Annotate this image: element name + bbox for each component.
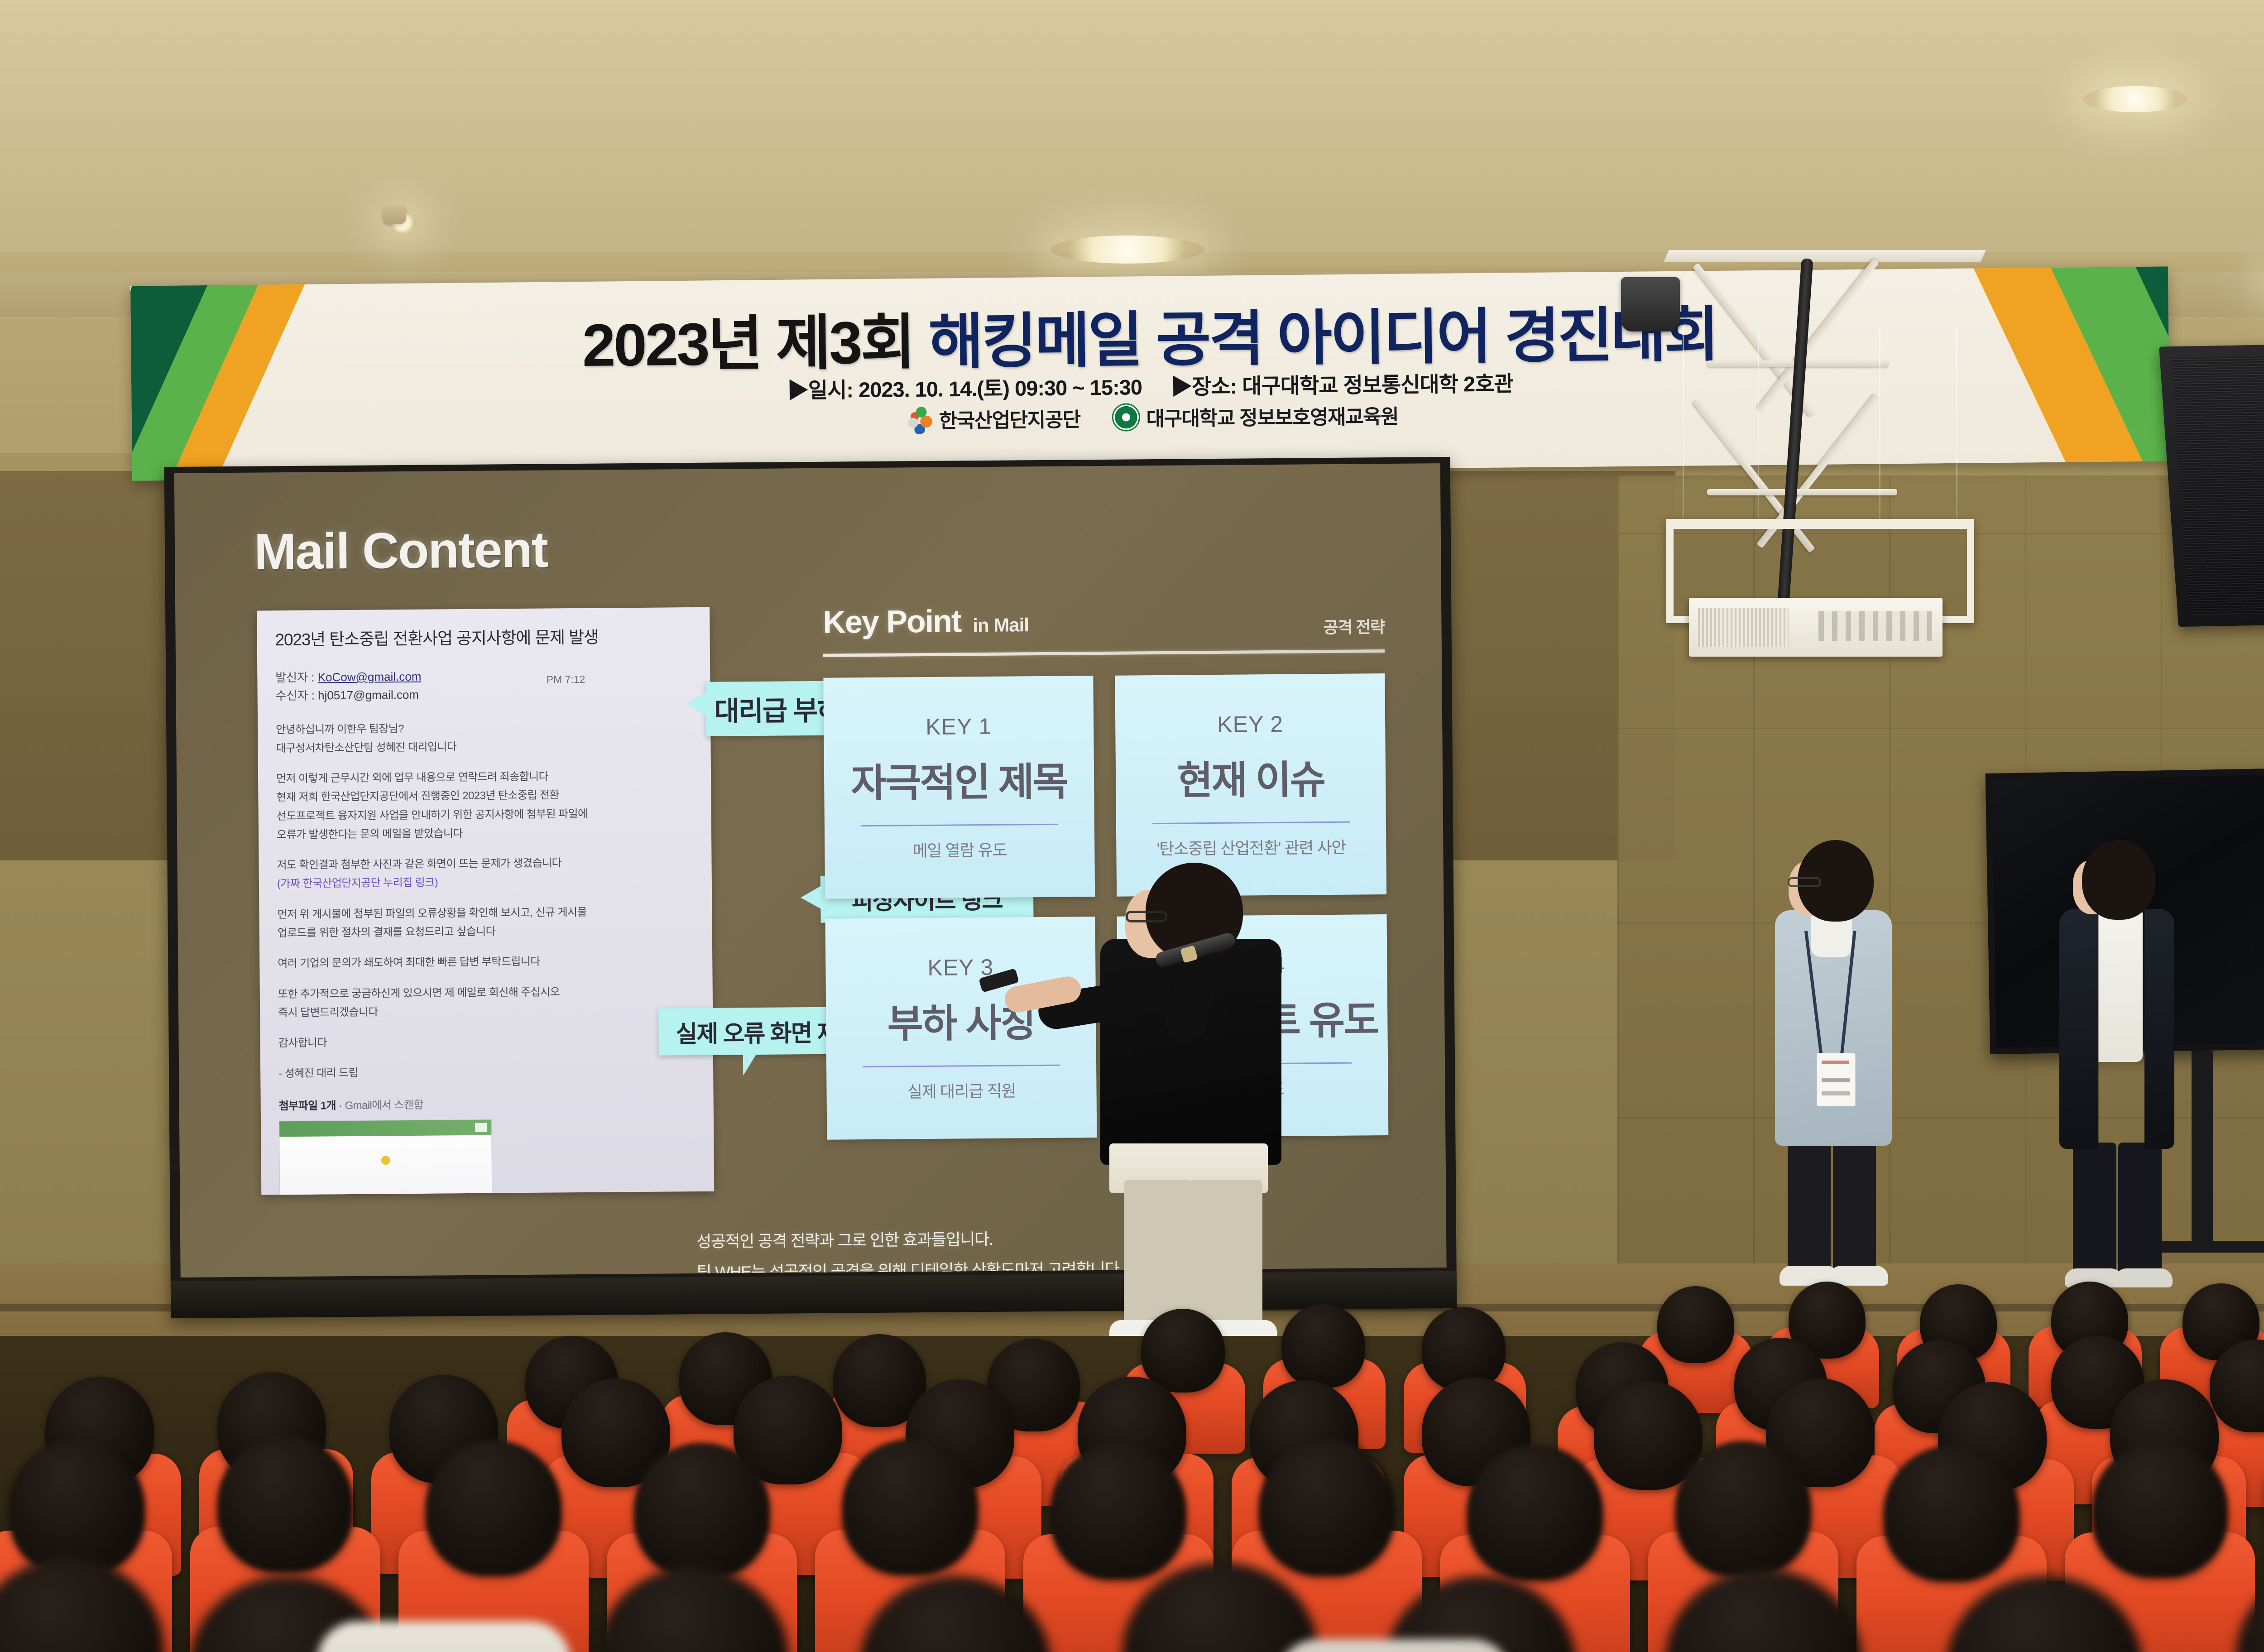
email-preview-card: 2023년 탄소중립 전환사업 공지사항에 문제 발생 발신자 : KoCow@… xyxy=(257,607,714,1195)
banner-date: ▶일시: 2023. 10. 14.(토) 09:30 ~ 15:30 xyxy=(787,375,1142,403)
daegu-univ-logo-icon xyxy=(1112,403,1140,432)
projector-body xyxy=(1689,598,1943,657)
email-line-10: 즉시 답변드리겠습니다 xyxy=(278,1006,378,1019)
key-point-tag: 공격 전략 xyxy=(1323,614,1384,638)
audience-head xyxy=(1657,1286,1734,1363)
email-body-line: 또한 추가적으로 궁금하신게 있으시면 제 메일로 회신해 주십시오 즉시 답변… xyxy=(278,982,695,1023)
key-card-sub: 메일 열람 유도 xyxy=(912,837,1007,862)
staff-head xyxy=(2082,840,2155,920)
staff-inner-shirt xyxy=(1811,916,1852,957)
staff-leg xyxy=(2073,1143,2116,1278)
projector-vent xyxy=(1698,608,1789,647)
badge-line xyxy=(1822,1078,1850,1082)
email-attachment-label: 첨부파일 1개 xyxy=(279,1100,336,1112)
email-body-line: 감사합니다 xyxy=(278,1031,695,1052)
audience-head xyxy=(426,1440,561,1576)
audience-head xyxy=(217,1436,353,1572)
kicox-logo-icon xyxy=(902,404,933,435)
sponsor-daegu-label: 대구대학교 정보보호영재교육원 xyxy=(1146,400,1398,432)
sponsor-kicox: 한국산업단지공단 xyxy=(902,403,1080,434)
email-phishing-link-note[interactable]: (가짜 한국산업단지공단 누리집 링크) xyxy=(277,877,438,890)
key-point-title-sub: in Mail xyxy=(973,614,1029,636)
audience-shoulder xyxy=(1277,1639,1512,1652)
monitor-stand-post xyxy=(2192,1051,2213,1245)
email-line-2: 먼저 이렇게 근무시간 외에 업무 내용으로 연락드려 죄송합니다 xyxy=(276,771,548,785)
ceiling-projector-icon xyxy=(1639,254,2010,661)
badge-line xyxy=(1822,1091,1850,1095)
key-card-number: KEY 1 xyxy=(926,713,992,740)
key-card-sub: 실제 대리급 직원 xyxy=(907,1078,1016,1102)
email-body-line: 안녕하십니까 이한우 팀장님? 대구성서차탄소산단팀 성혜진 대리입니다 xyxy=(276,717,693,758)
audience-head xyxy=(1467,1445,1603,1580)
glasses-icon xyxy=(1788,877,1821,887)
banner-title-year: 2023년 제3회 xyxy=(582,309,929,379)
email-to-row: 수신자 : hj0517@gmail.com xyxy=(275,683,692,705)
attachment-warning-icon xyxy=(381,1156,390,1165)
audience-head xyxy=(1422,1307,1506,1391)
auditorium-scene: 2023년 제3회 해킹메일 공격 아이디어 경진대회 ▶일시: 2023. 1… xyxy=(0,0,2264,1652)
email-body-line: 먼저 이렇게 근무시간 외에 업무 내용으로 연락드려 죄송합니다 현재 저희 … xyxy=(276,766,693,844)
key-card-main: 자극적인 제목 xyxy=(851,750,1068,808)
attachment-thumb-bar xyxy=(279,1119,491,1137)
audience xyxy=(0,1304,2264,1652)
email-from-label: 발신자 : xyxy=(275,671,314,685)
email-line-3: 현재 저희 한국산업단지공단에서 진행중인 2023년 탄소중립 전환 xyxy=(276,789,559,804)
staff-member-with-badge xyxy=(1761,840,1897,1297)
email-attachment-row: 첨부파일 1개 · Gmail에서 스캔함 xyxy=(279,1094,696,1113)
key-point-title: Key Point xyxy=(823,603,961,640)
email-to-label: 수신자 : xyxy=(276,689,315,703)
staff-leg xyxy=(2118,1143,2162,1278)
safety-wire xyxy=(1758,326,1759,521)
banner-title-main: 해킹메일 공격 아이디어 경진대회 xyxy=(928,301,1718,375)
email-body: 안녕하십니까 이한우 팀장님? 대구성서차탄소산단팀 성혜진 대리입니다 먼저 … xyxy=(276,717,695,1083)
projector-ports xyxy=(1818,611,1932,641)
email-line-7: 먼저 위 게시물에 첨부된 파일의 오류상황을 확인해 보시고, 신규 게시물 xyxy=(277,906,587,921)
audience-head xyxy=(634,1443,770,1579)
key-card-main: 현재 이슈 xyxy=(1177,748,1324,806)
ceiling-camera-icon xyxy=(1621,277,1680,331)
email-body-line: 저도 확인결과 첨부한 사진과 같은 화면이 뜨는 문제가 생겼습니다 (가짜 … xyxy=(277,853,694,893)
key-card-rule xyxy=(1152,821,1350,824)
key-card-rule xyxy=(863,1065,1060,1067)
audience-shoulder xyxy=(317,1621,571,1652)
email-from-address: KoCow@gmail.com xyxy=(318,670,422,684)
audience-head xyxy=(1281,1304,1365,1388)
projector-scissor-lift xyxy=(1698,254,1952,530)
sponsor-kicox-label: 한국산업단지공단 xyxy=(939,403,1080,433)
downlight-icon xyxy=(1050,235,1204,264)
key-card-sub: '탄소중립 산업전환' 관련 사안 xyxy=(1156,835,1346,860)
email-attachment-note: · Gmail에서 스캔함 xyxy=(339,1099,423,1111)
email-line-4: 선도프로젝트 융자지원 사업을 안내하기 위한 공지사항에 첨부된 파일에 xyxy=(277,808,588,822)
key-point-header: Key Point in Mail 공격 전략 xyxy=(823,600,1385,646)
sponsor-daegu: 대구대학교 정보보호영재교육원 xyxy=(1112,400,1398,432)
presenter xyxy=(1046,863,1336,1347)
email-subject: 2023년 탄소중립 전환사업 공지사항에 문제 발생 xyxy=(275,623,691,650)
smoke-detector-icon xyxy=(383,206,406,224)
audience-head xyxy=(1050,1444,1186,1580)
key-card-number: KEY 2 xyxy=(1217,711,1283,738)
banner-venue: ▶장소: 대구대학교 정보통신대학 2호관 xyxy=(1171,371,1513,399)
name-badge xyxy=(1817,1053,1856,1106)
audience-head xyxy=(1259,1440,1395,1576)
audience-head xyxy=(842,1439,978,1575)
audience-head xyxy=(2092,1442,2228,1578)
email-line-9: 또한 추가적으로 궁금하신게 있으시면 제 메일로 회신해 주십시오 xyxy=(278,986,560,1000)
staff-leg xyxy=(1788,1139,1831,1275)
audience-head xyxy=(1884,1445,2019,1581)
email-line-5: 오류가 발생한다는 문의 메일을 받았습니다 xyxy=(277,827,463,841)
email-signature: - 성혜진 대리 드림 xyxy=(278,1061,695,1083)
staff-shoe xyxy=(1829,1266,1888,1286)
audience-head xyxy=(9,1440,145,1576)
safety-wire xyxy=(1956,326,1957,521)
speaker-grill xyxy=(2172,354,2264,615)
email-to-address: hj0517@gmail.com xyxy=(318,688,419,702)
key-card-rule xyxy=(861,824,1059,826)
downlight-icon xyxy=(2083,86,2187,112)
key-point-divider xyxy=(823,649,1385,657)
email-line-1: 대구성서차탄소산단팀 성혜진 대리입니다 xyxy=(276,741,456,754)
email-body-line: 여러 기업의 문의가 쇄도하여 최대한 빠른 답변 부탁드립니다 xyxy=(278,951,694,973)
staff-leg xyxy=(1833,1139,1876,1275)
audience-head xyxy=(1141,1309,1225,1393)
safety-wire xyxy=(1683,326,1684,521)
slide-title: Mail Content xyxy=(254,520,548,581)
email-attachment-thumbnail[interactable] xyxy=(279,1119,492,1195)
staff-member xyxy=(2047,840,2182,1297)
safety-wire xyxy=(1879,326,1880,521)
email-line-8: 업로드를 위한 절차의 결재를 요청드리고 싶습니다 xyxy=(278,925,496,939)
email-body-line: 먼저 위 게시물에 첨부된 파일의 오류상황을 확인해 보시고, 신규 게시물 … xyxy=(277,902,694,943)
email-timestamp: PM 7:12 xyxy=(547,672,585,688)
badge-line xyxy=(1822,1061,1849,1064)
staff-shoe xyxy=(2115,1268,2173,1287)
email-metadata: 발신자 : KoCow@gmail.com 수신자 : hj0517@gmail… xyxy=(275,665,692,705)
email-line-6: 저도 확인결과 첨부한 사진과 같은 화면이 뜨는 문제가 생겼습니다 xyxy=(277,857,561,872)
glasses-icon xyxy=(1126,911,1167,922)
audience-head xyxy=(1675,1441,1811,1577)
email-line-0: 안녕하십니까 이한우 팀장님? xyxy=(276,723,404,736)
